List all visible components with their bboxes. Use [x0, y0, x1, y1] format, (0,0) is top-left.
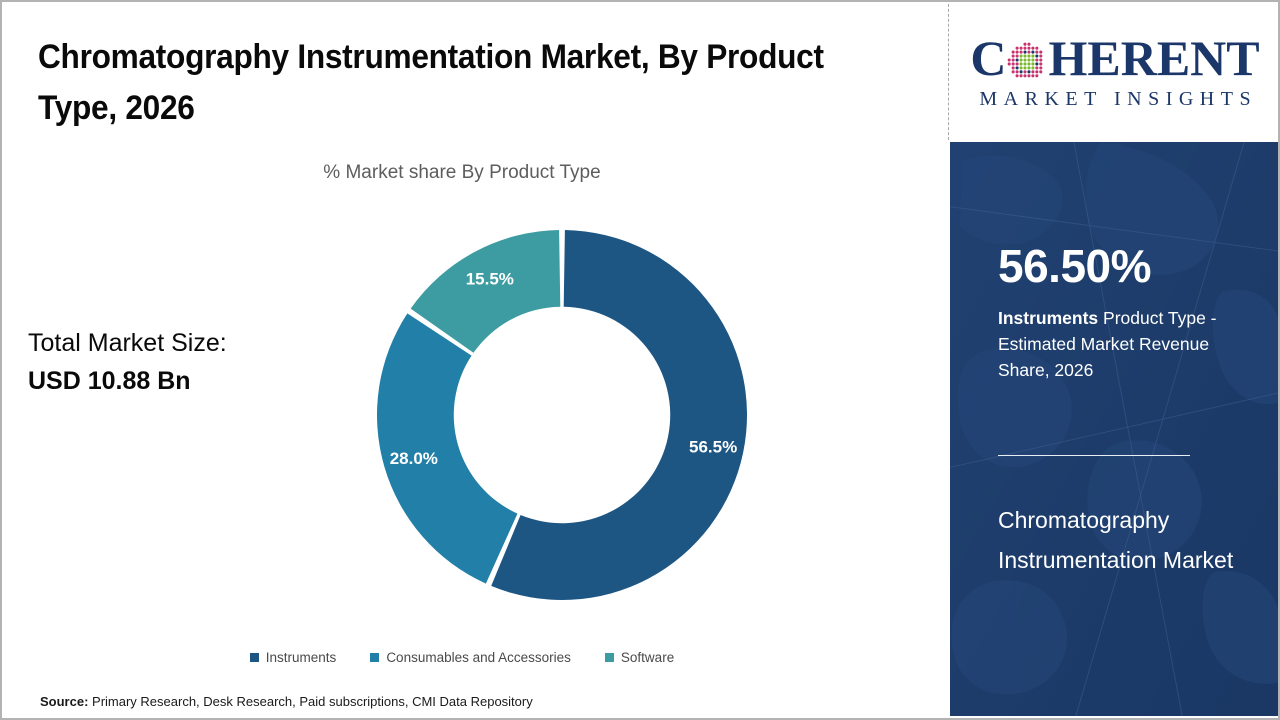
chart-panel: Chromatography Instrumentation Market, B… — [2, 2, 948, 718]
donut-chart-svg: 56.5%28.0%15.5% — [377, 230, 747, 600]
page-title: Chromatography Instrumentation Market, B… — [38, 32, 838, 134]
donut-slice-label: 56.5% — [689, 437, 737, 456]
legend-swatch-icon — [370, 653, 379, 662]
source-note: Source: Primary Research, Desk Research,… — [40, 694, 533, 709]
logo-text-herent: HERENT — [1048, 33, 1259, 83]
panel-divider — [948, 4, 949, 140]
total-market-size: Total Market Size: USD 10.88 Bn — [28, 324, 328, 400]
legend-swatch-icon — [605, 653, 614, 662]
source-text: Primary Research, Desk Research, Paid su… — [88, 694, 532, 709]
chart-subtitle: % Market share By Product Type — [2, 162, 922, 184]
chart-legend: InstrumentsConsumables and AccessoriesSo… — [2, 650, 922, 665]
market-name: Chromatography Instrumentation Market — [998, 500, 1243, 580]
highlight-sidebar: 56.50% Instruments Product Type - Estima… — [950, 142, 1280, 716]
legend-item-label: Instruments — [266, 650, 337, 665]
legend-item[interactable]: Software — [605, 650, 674, 665]
source-label: Source: — [40, 694, 88, 709]
legend-item[interactable]: Consumables and Accessories — [370, 650, 571, 665]
logo-tagline: MARKET INSIGHTS — [973, 88, 1257, 111]
legend-item-label: Software — [621, 650, 674, 665]
logo-letter-c: C — [970, 33, 1006, 83]
brand-logo: C HERENT MARKET INSIGHTS — [950, 4, 1280, 140]
donut-slice-label: 28.0% — [390, 449, 438, 468]
stat-percentage: 56.50% — [998, 243, 1151, 289]
sidebar-content: 56.50% Instruments Product Type - Estima… — [998, 142, 1256, 716]
total-market-value: USD 10.88 Bn — [28, 362, 328, 400]
donut-chart: 56.5%28.0%15.5% — [377, 230, 747, 600]
donut-slices — [377, 230, 747, 600]
donut-slice-label: 15.5% — [466, 270, 514, 289]
legend-swatch-icon — [250, 653, 259, 662]
legend-item[interactable]: Instruments — [250, 650, 337, 665]
dotted-globe-svg — [1007, 42, 1047, 82]
total-market-label: Total Market Size: — [28, 324, 328, 362]
legend-item-label: Consumables and Accessories — [386, 650, 571, 665]
logo-wordmark: C HERENT — [970, 33, 1259, 83]
stat-description-highlight: Instruments — [998, 308, 1098, 328]
infographic-page: Chromatography Instrumentation Market, B… — [0, 0, 1280, 720]
stat-description: Instruments Product Type - Estimated Mar… — [998, 305, 1260, 383]
dotted-globe-icon — [1007, 40, 1047, 80]
sidebar-divider — [998, 455, 1190, 456]
